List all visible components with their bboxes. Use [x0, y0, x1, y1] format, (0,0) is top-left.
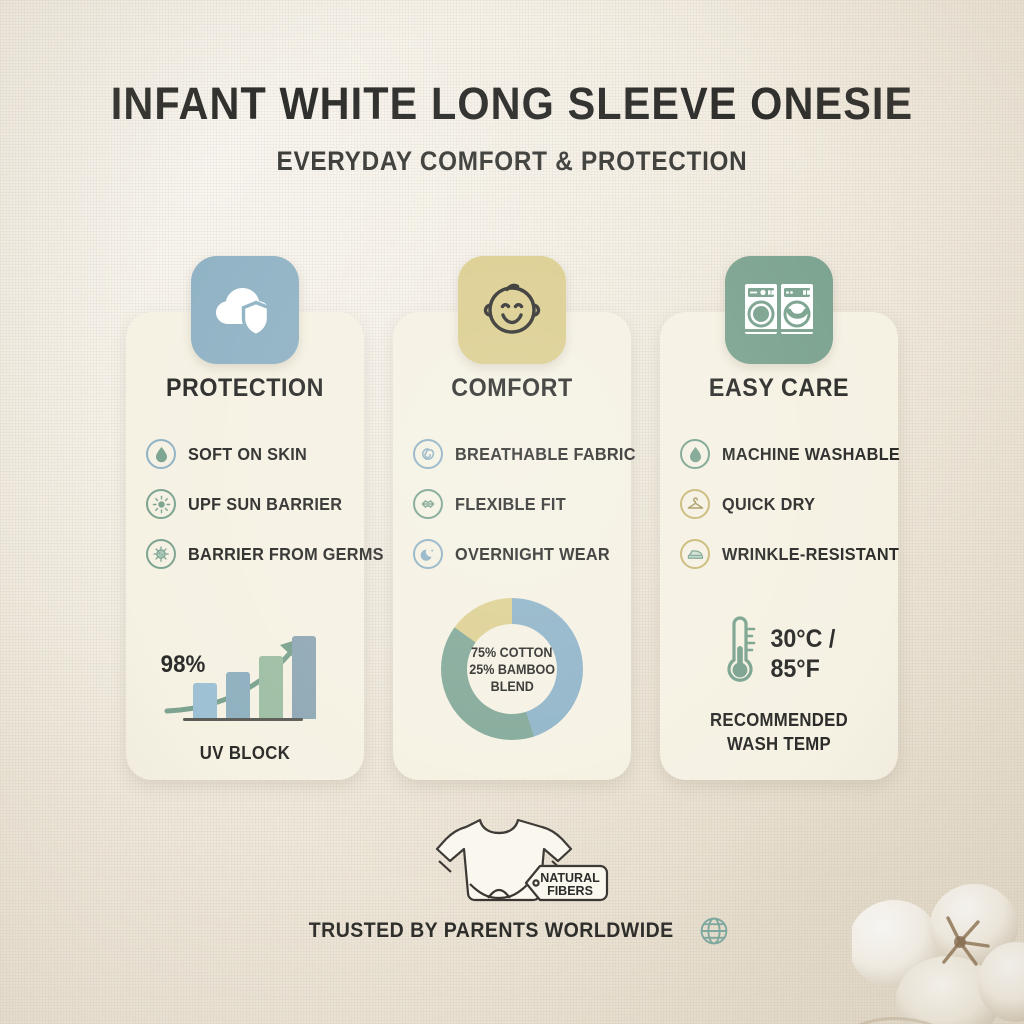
bar-2 [226, 672, 250, 719]
bar-group [193, 633, 316, 719]
feature-list-comfort: BREATHABLE FABRIC FLEXIBLE FIT [393, 429, 631, 579]
feature-soft-on-skin[interactable]: SOFT ON SKIN [146, 429, 350, 479]
globe-icon [699, 916, 729, 946]
wash-temp-fahrenheit: 85°F [771, 654, 836, 684]
feature-overnight-wear[interactable]: OVERNIGHT WEAR [413, 529, 617, 579]
feature-quick-dry[interactable]: QUICK DRY [680, 479, 884, 529]
iron-icon [680, 539, 710, 569]
stat-uv-block: 98% UV BLOCK [126, 621, 364, 764]
sun-icon [146, 489, 176, 519]
washer-dryer-icon [743, 282, 815, 338]
card-protection[interactable]: PROTECTION SOFT ON SKIN UPF SUN [126, 312, 364, 780]
footer-text: TRUSTED BY PARENTS WORLDWIDE [309, 919, 674, 943]
feature-label: FLEXIBLE FIT [455, 494, 566, 515]
infographic-poster: INFANT WHITE LONG SLEEVE ONESIE EVERYDAY… [0, 0, 1024, 1024]
stat-wash-temp: 30°C / 85°F RECOMMENDED WASH TEMP [660, 616, 898, 756]
cloud-shield-icon [212, 280, 278, 340]
onesie-illustration-wrap: NATURAL FIBERS [0, 806, 1024, 906]
feature-label: WRINKLE-RESISTANT [722, 544, 899, 565]
wash-temp-caption-line-2: WASH TEMP [668, 732, 889, 756]
wash-temp-caption: RECOMMENDED WASH TEMP [668, 708, 889, 756]
wash-temp-caption-line-1: RECOMMENDED [668, 708, 889, 732]
bar-4 [292, 636, 316, 719]
bar-3 [259, 656, 283, 719]
blend-line-2: 25% BAMBOO [469, 661, 555, 678]
tile-easy-care [725, 256, 833, 364]
footer: TRUSTED BY PARENTS WORLDWIDE [0, 916, 1024, 946]
tile-protection [191, 256, 299, 364]
page-title: INFANT WHITE LONG SLEEVE ONESIE [41, 78, 983, 130]
blend-line-3: BLEND [490, 678, 533, 695]
uv-block-caption: UV BLOCK [134, 743, 355, 764]
donut-chart: 75% COTTON 25% BAMBOO BLEND [441, 598, 583, 740]
feature-list-protection: SOFT ON SKIN UPF SUN BARRIER [126, 429, 364, 579]
card-title-easy-care: EASY CARE [668, 374, 889, 403]
tag-line-1: NATURAL [540, 871, 600, 885]
feature-label: OVERNIGHT WEAR [455, 544, 610, 565]
feature-label: QUICK DRY [722, 494, 815, 515]
hanger-icon [680, 489, 710, 519]
feature-list-easy-care: MACHINE WASHABLE QUICK DRY [660, 429, 898, 579]
header: INFANT WHITE LONG SLEEVE ONESIE EVERYDAY… [0, 78, 1024, 177]
feature-breathable-fabric[interactable]: BREATHABLE FABRIC [413, 429, 617, 479]
donut-center-label: 75% COTTON 25% BAMBOO BLEND [467, 624, 557, 714]
feature-label: BREATHABLE FABRIC [455, 444, 636, 465]
feature-label: MACHINE WASHABLE [722, 444, 900, 465]
feature-barrier-from-germs[interactable]: BARRIER FROM GERMS [146, 529, 350, 579]
card-title-comfort: COMFORT [401, 374, 622, 403]
stat-fabric-blend: 75% COTTON 25% BAMBOO BLEND [393, 598, 631, 740]
feature-label: UPF SUN BARRIER [188, 494, 342, 515]
bar-1 [193, 683, 217, 719]
baby-face-icon [477, 277, 547, 343]
feature-upf-sun-barrier[interactable]: UPF SUN BARRIER [146, 479, 350, 529]
feature-flexible-fit[interactable]: FLEXIBLE FIT [413, 479, 617, 529]
droplet-icon [680, 439, 710, 469]
onesie-icon: NATURAL FIBERS [392, 806, 632, 906]
feature-machine-washable[interactable]: MACHINE WASHABLE [680, 429, 884, 479]
feature-wrinkle-resistant[interactable]: WRINKLE-RESISTANT [680, 529, 884, 579]
card-title-protection: PROTECTION [134, 374, 355, 403]
germ-icon [146, 539, 176, 569]
card-comfort[interactable]: COMFORT BREATHABLE FABRIC [393, 312, 631, 780]
feature-label: BARRIER FROM GERMS [188, 544, 384, 565]
wash-temp-celsius: 30°C / [771, 624, 836, 654]
bar-chart: 98% [145, 621, 345, 741]
tile-comfort [458, 256, 566, 364]
feature-label: SOFT ON SKIN [188, 444, 307, 465]
wash-temp-value: 30°C / 85°F [771, 624, 836, 684]
stretch-arrows-icon [413, 489, 443, 519]
page-subtitle: EVERYDAY COMFORT & PROTECTION [51, 146, 973, 177]
blend-line-1: 75% COTTON [471, 644, 552, 661]
moon-icon [413, 539, 443, 569]
chart-baseline [183, 718, 303, 721]
tag-line-2: FIBERS [547, 884, 593, 898]
feature-card-row: PROTECTION SOFT ON SKIN UPF SUN [126, 312, 898, 780]
swirl-icon [413, 439, 443, 469]
droplet-icon [146, 439, 176, 469]
thermometer-icon [720, 616, 756, 692]
card-easy-care[interactable]: EASY CARE MACHINE WASHABLE QUICK [660, 312, 898, 780]
